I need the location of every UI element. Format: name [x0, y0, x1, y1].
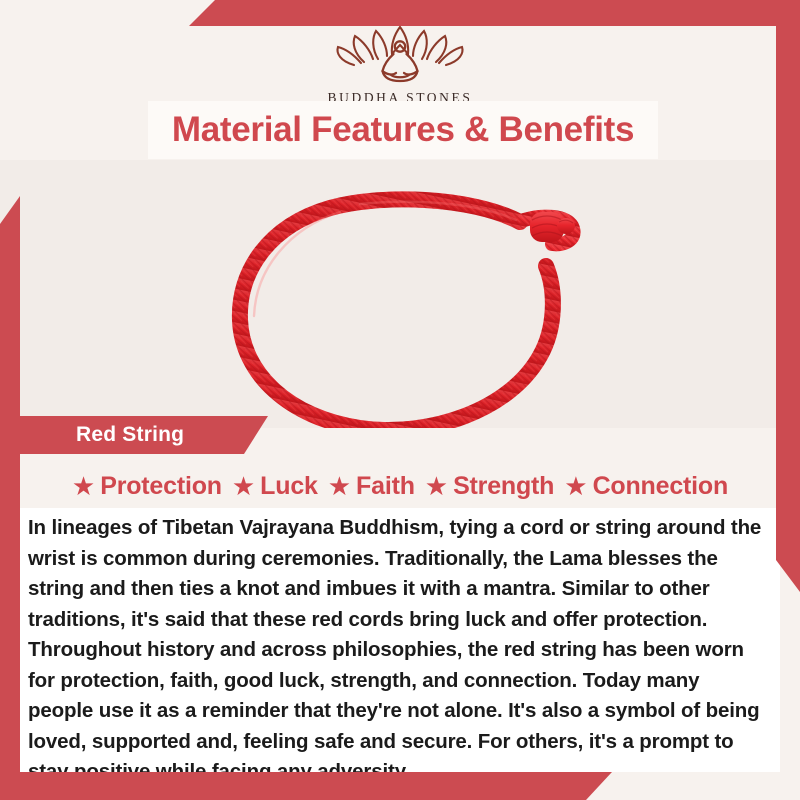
benefit-label: Protection — [100, 472, 222, 501]
benefit-label: Faith — [356, 472, 415, 501]
product-image — [0, 160, 800, 428]
page-title: Material Features & Benefits — [172, 110, 634, 150]
list-item: ★ Strength — [425, 472, 554, 501]
benefit-label: Connection — [593, 472, 729, 501]
lotus-meditation-figure-icon — [334, 21, 466, 87]
list-item: ★ Faith — [328, 472, 415, 501]
list-item: ★ Protection — [72, 472, 222, 501]
list-item: ★ Luck — [232, 472, 318, 501]
benefit-label: Strength — [453, 472, 554, 501]
ribbon-label: Red String — [76, 423, 184, 447]
star-icon: ★ — [564, 473, 587, 499]
poster-canvas: BUDDHA STONES Material Features & Benefi… — [0, 0, 800, 800]
list-item: ★ Connection — [564, 472, 728, 501]
page-title-band: Material Features & Benefits — [148, 101, 658, 159]
frame-left-bar — [0, 196, 20, 800]
star-icon: ★ — [232, 473, 255, 499]
star-icon: ★ — [328, 473, 351, 499]
description-panel: In lineages of Tibetan Vajrayana Buddhis… — [20, 508, 780, 772]
status-badge: Red String — [20, 416, 268, 454]
benefits-list: ★ Protection ★ Luck ★ Faith ★ Strength ★… — [0, 464, 800, 508]
brand-header: BUDDHA STONES — [0, 0, 800, 110]
star-icon: ★ — [425, 473, 448, 499]
benefit-label: Luck — [260, 472, 318, 501]
description-text: In lineages of Tibetan Vajrayana Buddhis… — [28, 513, 768, 788]
star-icon: ★ — [72, 473, 95, 499]
